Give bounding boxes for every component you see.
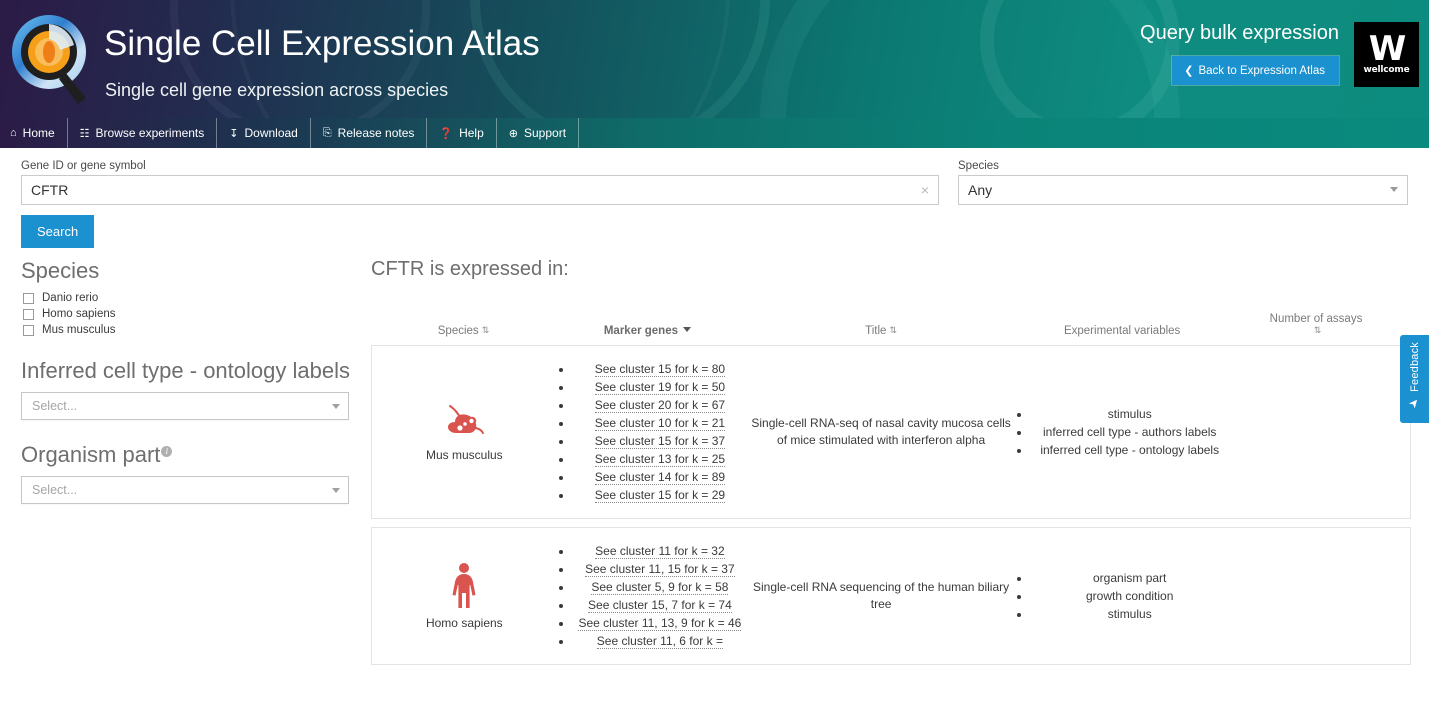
nav-item-label: Download	[244, 126, 297, 140]
marker-gene-link[interactable]: See cluster 15, 7 for k = 74	[588, 598, 732, 613]
support-icon: ⊕	[509, 127, 518, 140]
species-field-label: Species	[958, 160, 1408, 172]
list-item[interactable]: See cluster 13 for k = 25	[573, 450, 747, 468]
site-subtitle: Single cell gene expression across speci…	[105, 80, 448, 101]
list-item[interactable]: See cluster 20 for k = 67	[573, 396, 747, 414]
chevron-down-icon	[332, 404, 340, 409]
marker-gene-link[interactable]: See cluster 5, 9 for k = 58	[591, 580, 728, 595]
facet-inferred-cell-type: Inferred cell type - ontology labels Sel…	[21, 358, 361, 420]
nav-item-home[interactable]: ⌂ Home	[0, 118, 68, 148]
list-item[interactable]: See cluster 11, 6 for k =	[573, 632, 747, 650]
gene-search-input[interactable]	[21, 175, 939, 205]
list-item: stimulus	[1031, 405, 1228, 423]
gene-field-group: Gene ID or gene symbol ×	[21, 160, 939, 205]
question-circle-icon: ❓	[439, 127, 453, 140]
chevron-down-icon	[1390, 187, 1398, 192]
marker-gene-link[interactable]: See cluster 11 for k = 32	[595, 544, 725, 559]
cell-marker-genes: See cluster 15 for k = 80 See cluster 19…	[549, 360, 747, 504]
column-header-label: Number of assays	[1270, 313, 1363, 325]
facet-checkbox-danio-rerio[interactable]: Danio rerio	[23, 292, 361, 304]
decorative-arc	[980, 0, 1180, 118]
site-title: Single Cell Expression Atlas	[104, 22, 540, 66]
list-item[interactable]: See cluster 11 for k = 32	[573, 542, 747, 560]
results-panel: CFTR is expressed in: Species⇅ Marker ge…	[371, 258, 1411, 673]
table-row[interactable]: Mus musculus See cluster 15 for k = 80 S…	[371, 345, 1411, 519]
nav-item-label: Browse experiments	[96, 126, 205, 140]
species-select-value: Any	[968, 182, 992, 198]
organism-part-select-placeholder: Select...	[32, 483, 77, 497]
nav-item-support[interactable]: ⊕ Support	[497, 118, 579, 148]
facet-organism-part-label: Organism part	[21, 442, 160, 467]
list-item: inferred cell type - authors labels	[1031, 423, 1228, 441]
feedback-label: Feedback	[1409, 342, 1421, 392]
marker-genes-list: See cluster 11 for k = 32 See cluster 11…	[549, 542, 747, 650]
list-item: growth condition	[1031, 587, 1228, 605]
list-item[interactable]: See cluster 14 for k = 89	[573, 468, 747, 486]
cell-title: Single-cell RNA-seq of nasal cavity muco…	[747, 415, 1015, 449]
list-item: stimulus	[1031, 605, 1228, 623]
feedback-tab[interactable]: Feedback ➤	[1400, 335, 1429, 423]
column-header-number-of-assays[interactable]: Number of assays ⇅	[1229, 313, 1403, 337]
flask-icon: ☷	[80, 127, 90, 140]
results-table-header: Species⇅ Marker genes Title⇅ Experimenta…	[371, 313, 1411, 345]
search-button[interactable]: Search	[21, 215, 94, 248]
marker-genes-list: See cluster 15 for k = 80 See cluster 19…	[549, 360, 747, 504]
marker-gene-link[interactable]: See cluster 13 for k = 25	[595, 452, 725, 467]
list-item: organism part	[1031, 569, 1228, 587]
marker-gene-link[interactable]: See cluster 10 for k = 21	[595, 416, 725, 431]
column-header-label: Experimental variables	[1064, 325, 1180, 337]
download-icon: ↧	[229, 127, 238, 140]
chevron-left-icon: ❮	[1184, 65, 1193, 77]
cell-experimental-variables: organism part growth condition stimulus	[1015, 569, 1228, 623]
list-item: inferred cell type - ontology labels	[1031, 441, 1228, 459]
facet-organism-part: Organism parti Select...	[21, 442, 361, 504]
cursor-arrow-icon: ➤	[1407, 395, 1423, 410]
marker-gene-link[interactable]: See cluster 14 for k = 89	[595, 470, 725, 485]
marker-gene-link[interactable]: See cluster 15 for k = 29	[595, 488, 725, 503]
gene-field-label: Gene ID or gene symbol	[21, 160, 939, 172]
marker-gene-link[interactable]: See cluster 15 for k = 80	[595, 362, 725, 377]
marker-gene-link[interactable]: See cluster 11, 15 for k = 37	[585, 562, 735, 577]
home-icon: ⌂	[10, 127, 17, 139]
chevron-down-icon	[332, 488, 340, 493]
marker-gene-link[interactable]: See cluster 11, 13, 9 for k = 46	[578, 616, 741, 631]
facet-checkbox-homo-sapiens[interactable]: Homo sapiens	[23, 308, 361, 320]
query-bulk-expression-label: Query bulk expression	[1140, 22, 1339, 45]
site-masthead: Single Cell Expression Atlas Single cell…	[0, 0, 1429, 118]
checkbox-icon[interactable]	[23, 293, 34, 304]
table-row[interactable]: Homo sapiens See cluster 11 for k = 32 S…	[371, 527, 1411, 665]
list-item[interactable]: See cluster 19 for k = 50	[573, 378, 747, 396]
experimental-variables-list: organism part growth condition stimulus	[1015, 569, 1228, 623]
main-navigation: ⌂ Home ☷ Browse experiments ↧ Download ⎘…	[0, 118, 1429, 148]
facet-cell-type-title: Inferred cell type - ontology labels	[21, 358, 361, 384]
marker-gene-link[interactable]: See cluster 19 for k = 50	[595, 380, 725, 395]
column-header-experimental-variables: Experimental variables	[1015, 325, 1229, 337]
facet-option-label: Homo sapiens	[42, 308, 116, 320]
notes-icon: ⎘	[323, 127, 332, 140]
species-field-group: Species Any	[958, 160, 1408, 205]
species-label: Homo sapiens	[380, 616, 549, 630]
marker-gene-link[interactable]: See cluster 11, 6 for k =	[597, 634, 723, 649]
human-icon	[442, 562, 486, 610]
facet-option-label: Danio rerio	[42, 292, 98, 304]
results-heading: CFTR is expressed in:	[371, 258, 1411, 281]
column-header-label: Marker genes	[604, 325, 678, 337]
column-header-title[interactable]: Title⇅	[747, 325, 1015, 337]
back-to-expression-atlas-button[interactable]: ❮Back to Expression Atlas	[1172, 56, 1339, 85]
site-logo[interactable]	[8, 12, 94, 104]
cell-species: Mus musculus	[380, 402, 549, 462]
nav-item-browse-experiments[interactable]: ☷ Browse experiments	[68, 118, 218, 148]
facet-option-label: Mus musculus	[42, 324, 116, 336]
list-item[interactable]: See cluster 10 for k = 21	[573, 414, 747, 432]
list-item[interactable]: See cluster 15 for k = 37	[573, 432, 747, 450]
nav-item-label: Support	[524, 126, 566, 140]
species-label: Mus musculus	[380, 448, 549, 462]
mouse-icon	[442, 402, 486, 442]
clear-icon[interactable]: ×	[921, 182, 929, 198]
sort-desc-icon	[683, 327, 691, 332]
facet-sidebar: Species Danio rerio Homo sapiens Mus mus…	[21, 258, 361, 526]
cell-species: Homo sapiens	[380, 562, 549, 630]
species-select[interactable]: Any	[958, 175, 1408, 205]
facet-organism-part-title: Organism parti	[21, 442, 361, 468]
nav-item-label: Help	[459, 126, 484, 140]
list-item[interactable]: See cluster 11, 13, 9 for k = 46	[573, 614, 747, 632]
sort-icon: ⇅	[1314, 325, 1322, 335]
experimental-variables-list: stimulus inferred cell type - authors la…	[1015, 405, 1228, 459]
column-header-species[interactable]: Species⇅	[379, 325, 548, 337]
marker-gene-link[interactable]: See cluster 20 for k = 67	[595, 398, 725, 413]
nav-item-label: Home	[23, 126, 55, 140]
cell-type-select-placeholder: Select...	[32, 399, 77, 413]
back-button-label: Back to Expression Atlas	[1198, 65, 1325, 77]
checkbox-icon[interactable]	[23, 309, 34, 320]
info-icon[interactable]: i	[161, 446, 172, 457]
nav-item-download[interactable]: ↧ Download	[217, 118, 311, 148]
cell-experimental-variables: stimulus inferred cell type - authors la…	[1015, 405, 1228, 459]
marker-gene-link[interactable]: See cluster 15 for k = 37	[595, 434, 725, 449]
list-item[interactable]: See cluster 11, 15 for k = 37	[573, 560, 747, 578]
facet-species: Species Danio rerio Homo sapiens Mus mus…	[21, 258, 361, 336]
sort-icon: ⇅	[889, 325, 897, 335]
column-header-label: Title	[865, 325, 886, 337]
list-item[interactable]: See cluster 15 for k = 80	[573, 360, 747, 378]
column-header-marker-genes[interactable]: Marker genes	[548, 325, 747, 337]
wellcome-wordmark: wellcome	[1364, 65, 1410, 75]
facet-checkbox-mus-musculus[interactable]: Mus musculus	[23, 324, 361, 336]
nav-item-release-notes[interactable]: ⎘ Release notes	[311, 118, 428, 148]
wellcome-w-glyph: W	[1369, 34, 1405, 64]
column-header-label: Species	[438, 325, 479, 337]
cell-type-select[interactable]: Select...	[21, 392, 349, 420]
organism-part-select[interactable]: Select...	[21, 476, 349, 504]
sort-icon: ⇅	[482, 325, 490, 335]
list-item[interactable]: See cluster 15, 7 for k = 74	[573, 596, 747, 614]
nav-item-help[interactable]: ❓ Help	[427, 118, 496, 148]
cell-marker-genes: See cluster 11 for k = 32 See cluster 11…	[549, 542, 747, 650]
wellcome-logo[interactable]: W wellcome	[1354, 22, 1419, 87]
list-item[interactable]: See cluster 5, 9 for k = 58	[573, 578, 747, 596]
facet-species-title: Species	[21, 258, 361, 284]
nav-item-label: Release notes	[338, 126, 415, 140]
list-item[interactable]: See cluster 15 for k = 29	[573, 486, 747, 504]
decorative-arc	[760, 0, 1180, 118]
checkbox-icon[interactable]	[23, 325, 34, 336]
cell-title: Single-cell RNA sequencing of the human …	[747, 579, 1015, 613]
